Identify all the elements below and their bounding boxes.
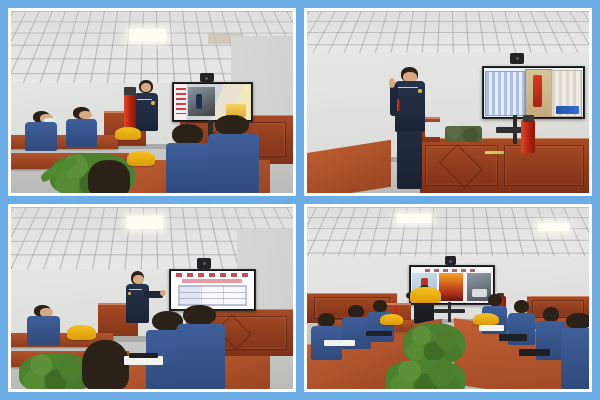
attendee-foreground xyxy=(561,313,589,389)
slide-regulation-document xyxy=(171,271,254,309)
ceiling-light xyxy=(397,214,431,223)
slide-title-text xyxy=(182,279,241,282)
notebook-paper xyxy=(479,325,504,330)
scene-top-left xyxy=(11,11,293,193)
shrub-planter xyxy=(403,323,465,363)
attendee-foreground xyxy=(84,160,135,193)
screen-content xyxy=(171,271,254,309)
hard-hat xyxy=(380,314,403,325)
scene-bottom-left xyxy=(11,207,293,389)
uniform-stripe xyxy=(137,99,152,100)
extinguisher-handle xyxy=(124,87,137,94)
scene-top-right xyxy=(307,11,589,193)
slide-equipment-cabinet xyxy=(484,68,584,117)
presenter xyxy=(392,67,429,189)
slide-caption-text xyxy=(176,88,186,113)
notebook xyxy=(519,349,550,356)
attendee-head xyxy=(215,115,248,135)
attendee-head xyxy=(488,294,502,306)
photo-top-left xyxy=(8,8,296,196)
slide-photo xyxy=(188,87,216,116)
attendee-head xyxy=(543,307,559,322)
uniform-stripe xyxy=(129,289,143,290)
screen-content xyxy=(484,68,584,117)
marker-pen xyxy=(485,151,505,154)
presenter-face xyxy=(141,83,151,92)
attendee xyxy=(22,111,61,151)
ceiling-grid xyxy=(307,207,589,257)
attendee-coverall xyxy=(177,324,225,389)
slide-header-text xyxy=(425,269,478,272)
fire-extinguisher xyxy=(521,120,535,153)
photo-bottom-left xyxy=(8,204,296,392)
ceiling-light xyxy=(129,29,166,42)
ceiling-light xyxy=(538,223,569,230)
uniform-stripe xyxy=(398,87,417,88)
notebook xyxy=(366,331,391,336)
uniform-insignia xyxy=(128,292,132,296)
attendee xyxy=(65,107,102,147)
shrub-planter-front xyxy=(386,360,465,389)
notebook-paper xyxy=(324,340,355,346)
attendee-coverall xyxy=(561,328,589,389)
ceiling-light xyxy=(127,216,164,229)
screen-camera-icon xyxy=(445,256,456,265)
hard-hat xyxy=(115,127,140,140)
attendee-head xyxy=(172,124,203,145)
attendee-head xyxy=(373,300,387,313)
ceiling-grid xyxy=(307,11,589,53)
attendee-head xyxy=(514,300,529,314)
presenter-trousers xyxy=(397,131,422,190)
attendee-foreground xyxy=(177,305,225,389)
screen-camera-icon xyxy=(510,53,524,64)
slide-data-table xyxy=(178,285,247,306)
screen-camera-icon xyxy=(197,258,211,269)
safety-helmet-demo xyxy=(410,287,441,303)
presenter-face xyxy=(133,275,143,284)
attendee-head xyxy=(348,305,364,318)
notebook xyxy=(499,334,527,340)
slide-hose-reel xyxy=(485,71,525,116)
presenter-uniform xyxy=(126,284,149,323)
cabinet-panel xyxy=(504,145,584,187)
attendee-head xyxy=(318,313,335,327)
hard-hat xyxy=(127,151,155,166)
attendee-foreground xyxy=(166,124,211,193)
uniform-insignia xyxy=(418,89,423,93)
wall-cabinet xyxy=(420,138,589,193)
attendee-head xyxy=(88,160,130,193)
scene-bottom-right xyxy=(307,207,589,389)
hard-hat xyxy=(473,313,498,326)
notebook xyxy=(129,353,157,358)
slide-banner xyxy=(556,106,580,114)
attendee-foreground xyxy=(208,115,259,193)
attendee-coverall xyxy=(27,316,60,345)
attendee-coverall xyxy=(25,122,57,151)
display-screen xyxy=(482,66,586,119)
presenter-uniform xyxy=(134,93,158,131)
screen-camera-icon xyxy=(200,73,214,82)
slide-header-text xyxy=(176,273,249,277)
attendee-head xyxy=(183,305,216,325)
attendee-coverall xyxy=(166,143,211,193)
attendee xyxy=(25,305,64,345)
handheld-red-device xyxy=(397,99,400,111)
attendee-coverall xyxy=(208,134,259,193)
photo-bottom-right xyxy=(304,204,592,392)
photo-collage xyxy=(0,0,600,400)
hard-hat xyxy=(67,325,95,340)
uniform-insignia xyxy=(151,101,155,105)
equipment-bag xyxy=(445,126,482,142)
photo-top-right xyxy=(304,8,592,196)
attendee-head xyxy=(82,340,129,389)
attendee-head xyxy=(566,313,589,330)
slide-extinguisher xyxy=(533,75,542,106)
attendee-coverall xyxy=(66,119,97,148)
extinguisher-handle xyxy=(523,115,534,122)
